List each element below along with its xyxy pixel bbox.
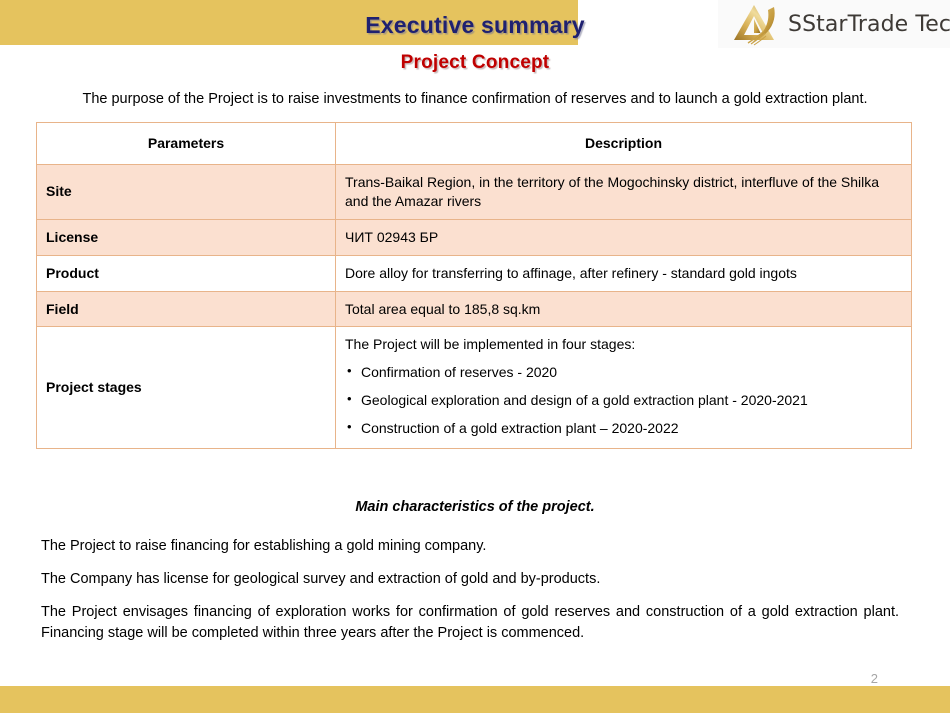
cell-description-license: ЧИТ 02943 БР — [336, 219, 912, 255]
body-paragraph: The Company has license for geological s… — [41, 569, 899, 590]
column-header-description: Description — [336, 123, 912, 165]
main-characteristics-heading: Main characteristics of the project. — [0, 499, 950, 515]
body-paragraphs: The Project to raise financing for estab… — [41, 536, 899, 644]
footer-accent-bar — [0, 686, 950, 713]
list-item: Construction of a gold extraction plant … — [345, 419, 902, 438]
cell-description-product: Dore alloy for transferring to affinage,… — [336, 255, 912, 291]
cell-parameter-product: Product — [37, 255, 336, 291]
table-row: Project stages The Project will be imple… — [37, 327, 912, 449]
cell-parameter-project-stages: Project stages — [37, 327, 336, 449]
logo-wordmark: SStarTrade Tech — [788, 12, 950, 37]
table-row: Field Total area equal to 185,8 sq.km — [37, 291, 912, 327]
project-concept-table: Parameters Description Site Trans-Baikal… — [36, 122, 912, 449]
cell-description-field: Total area equal to 185,8 sq.km — [336, 291, 912, 327]
project-stages-intro: The Project will be implemented in four … — [345, 335, 902, 354]
intro-sentence: The purpose of the Project is to raise i… — [0, 91, 950, 107]
page-subtitle: Project Concept — [0, 52, 950, 74]
cell-parameter-site: Site — [37, 165, 336, 220]
table-row: License ЧИТ 02943 БР — [37, 219, 912, 255]
cell-description-project-stages: The Project will be implemented in four … — [336, 327, 912, 449]
page-number: 2 — [871, 671, 878, 686]
column-header-parameters: Parameters — [37, 123, 336, 165]
list-item: Geological exploration and design of a g… — [345, 391, 902, 410]
cell-parameter-license: License — [37, 219, 336, 255]
table-header-row: Parameters Description — [37, 123, 912, 165]
slide-header: Executive summary Project Concept — [0, 0, 950, 86]
table-row: Site Trans-Baikal Region, in the territo… — [37, 165, 912, 220]
list-item: Confirmation of reserves - 2020 — [345, 363, 902, 382]
sstartrade-mountain-logo-icon — [724, 2, 786, 46]
cell-parameter-field: Field — [37, 291, 336, 327]
body-paragraph: The Project envisages financing of explo… — [41, 602, 899, 644]
company-logo: SStarTrade Tech — [718, 0, 950, 48]
project-stages-list: Confirmation of reserves - 2020 Geologic… — [345, 363, 902, 438]
cell-description-site: Trans-Baikal Region, in the territory of… — [336, 165, 912, 220]
body-paragraph: The Project to raise financing for estab… — [41, 536, 899, 557]
table-row: Product Dore alloy for transferring to a… — [37, 255, 912, 291]
